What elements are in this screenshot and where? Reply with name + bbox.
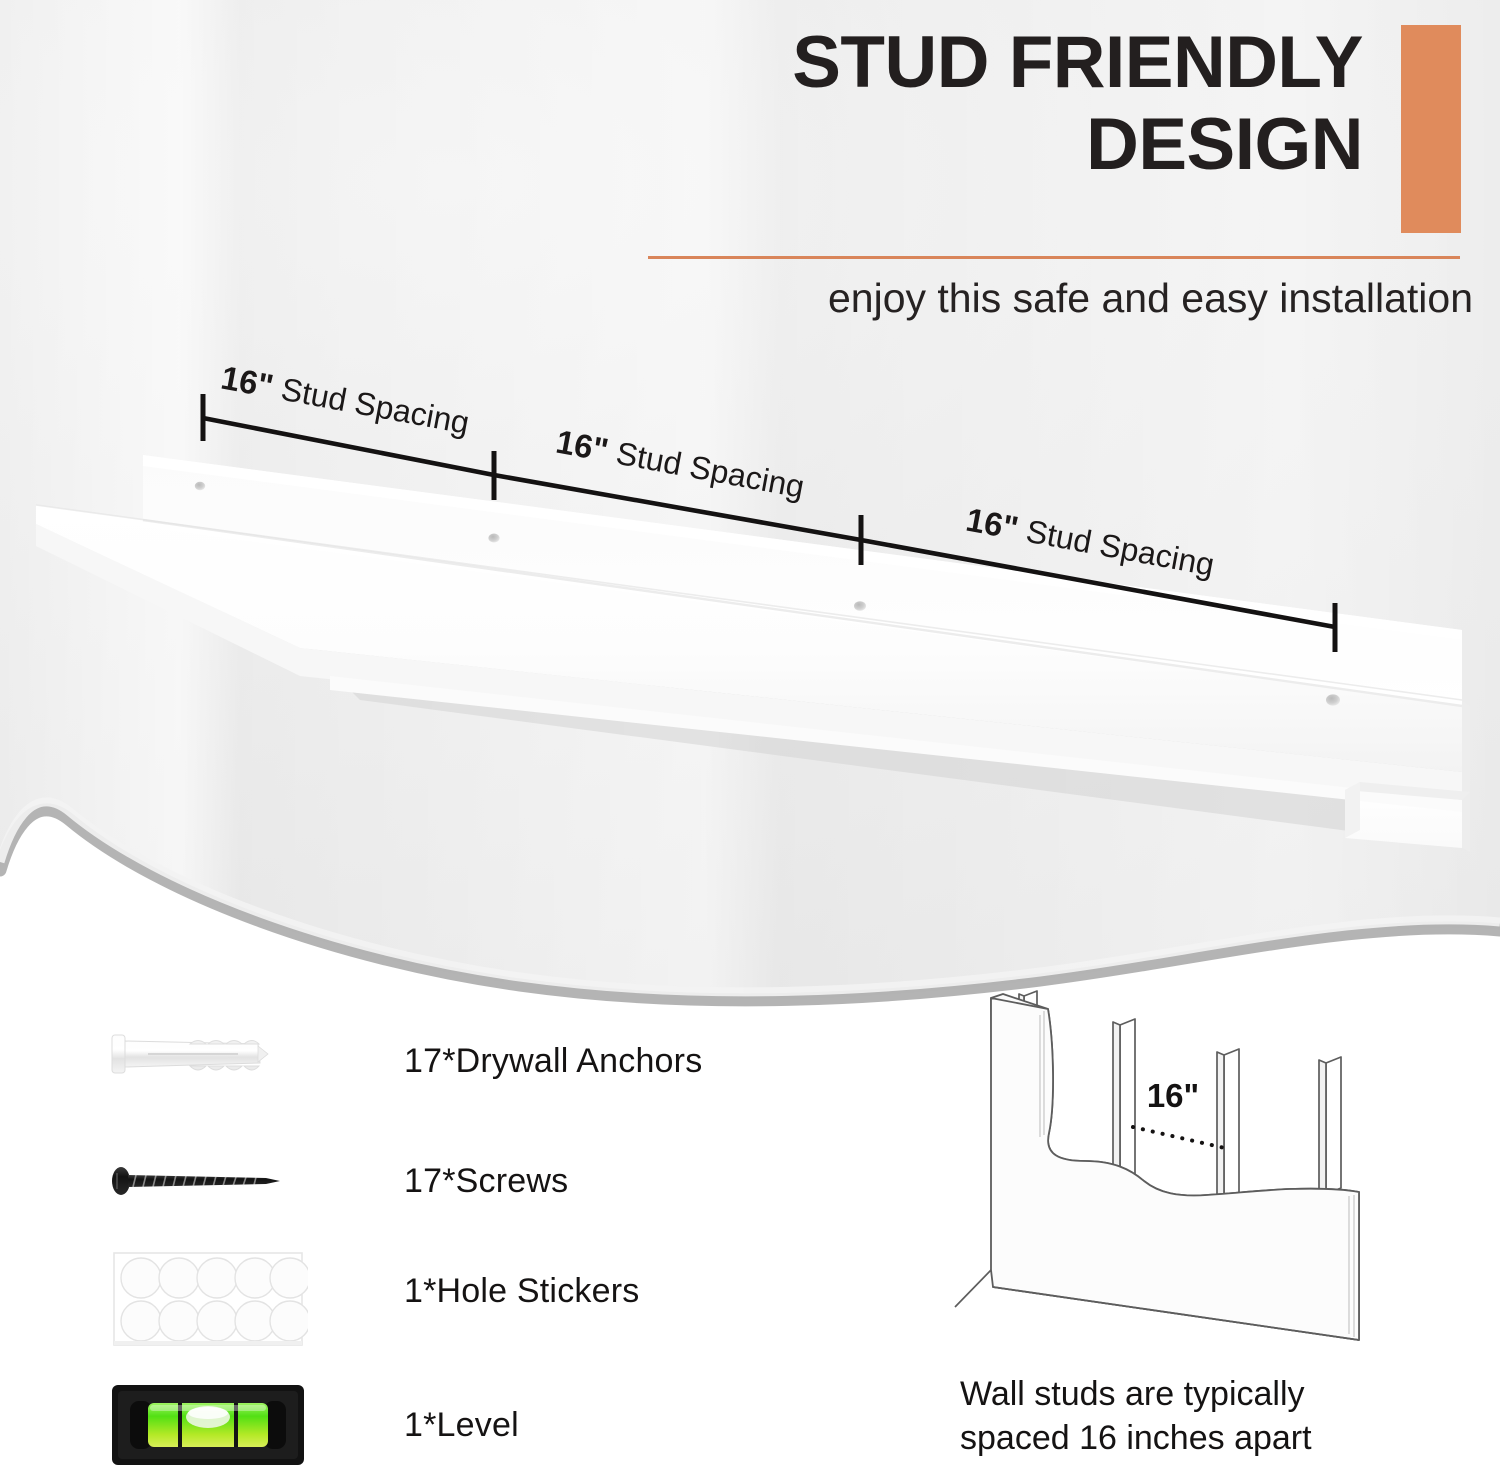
part-label: 17*Screws	[404, 1133, 568, 1229]
diagram-measurement-value: 16"	[1147, 1077, 1199, 1114]
diagram-caption-line-2: spaced 16 inches apart	[960, 1416, 1480, 1460]
headline-divider-rule	[648, 256, 1460, 259]
part-row: 17*Screws	[0, 1133, 780, 1229]
part-row: 1*Level	[0, 1377, 780, 1473]
hole-stickers-icon	[108, 1243, 308, 1339]
part-label: 17*Drywall Anchors	[404, 1013, 702, 1109]
wall-stud	[1319, 1057, 1341, 1194]
wall-stud	[1217, 1049, 1239, 1203]
screw-icon	[108, 1133, 308, 1229]
part-label: 1*Level	[404, 1377, 519, 1473]
accent-bar	[1401, 25, 1461, 233]
headline-line-1: STUD FRIENDLY	[645, 22, 1475, 104]
diagram-caption-line-1: Wall studs are typically	[960, 1372, 1480, 1416]
headline-subtitle: enjoy this safe and easy installation	[645, 275, 1473, 322]
part-label: 1*Hole Stickers	[404, 1243, 639, 1339]
part-row: 1*Hole Stickers	[0, 1243, 780, 1339]
headline-line-2: DESIGN	[645, 104, 1475, 186]
drywall-anchor-icon	[108, 1013, 308, 1109]
wall-stud-diagram: 16"	[945, 985, 1405, 1360]
included-parts-list: 17*Drywall Anchors	[0, 1005, 780, 1474]
infographic-page: 16" Stud Spacing 16" Stud Spacing 16" St…	[0, 0, 1500, 1474]
part-row: 17*Drywall Anchors	[0, 1013, 780, 1109]
diagram-caption: Wall studs are typically spaced 16 inche…	[960, 1372, 1480, 1460]
bubble-level-icon	[108, 1377, 308, 1473]
stud-spacing-dotted-line	[1133, 1127, 1229, 1149]
headline-block: STUD FRIENDLY DESIGN	[645, 22, 1475, 186]
